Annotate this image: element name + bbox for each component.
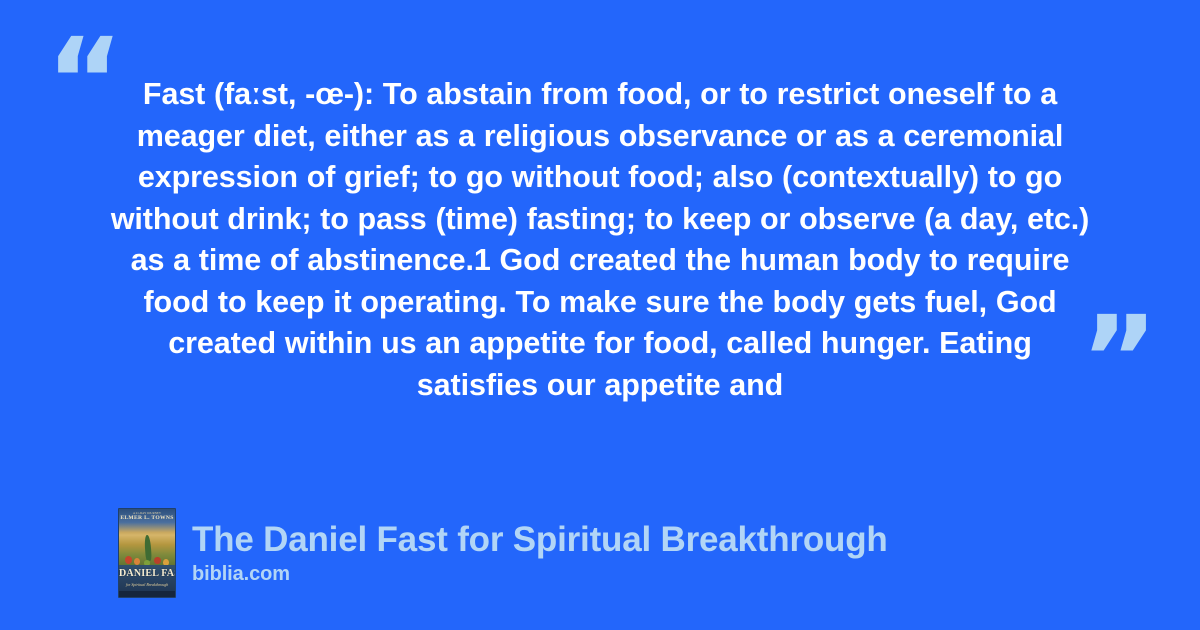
site-url[interactable]: biblia.com	[192, 562, 888, 586]
book-cover-vegetable	[125, 556, 132, 564]
book-cover-bottom-bar	[119, 591, 175, 597]
book-cover-title: DANIEL FAST	[119, 569, 175, 579]
book-cover-vegetable	[134, 558, 140, 565]
book-title[interactable]: The Daniel Fast for Spiritual Breakthrou…	[192, 520, 888, 560]
quote-card: “ Fast (faːst, -œ-): To abstain from foo…	[0, 0, 1200, 630]
book-cover-topline: A 21-DAY JOURNEY	[119, 511, 175, 515]
book-cover-subtitle: for Spiritual Breakthrough	[119, 582, 175, 587]
brand-text-block: The Daniel Fast for Spiritual Breakthrou…	[192, 520, 888, 586]
brand-footer[interactable]: A 21-DAY JOURNEY ELMER L. TOWNS DANIEL F…	[118, 508, 888, 598]
closing-quote-icon: ”	[1080, 300, 1158, 418]
quote-text: Fast (faːst, -œ-): To abstain from food,…	[110, 74, 1090, 406]
book-cover-thumbnail[interactable]: A 21-DAY JOURNEY ELMER L. TOWNS DANIEL F…	[118, 508, 176, 598]
book-cover-author: ELMER L. TOWNS	[119, 515, 175, 521]
